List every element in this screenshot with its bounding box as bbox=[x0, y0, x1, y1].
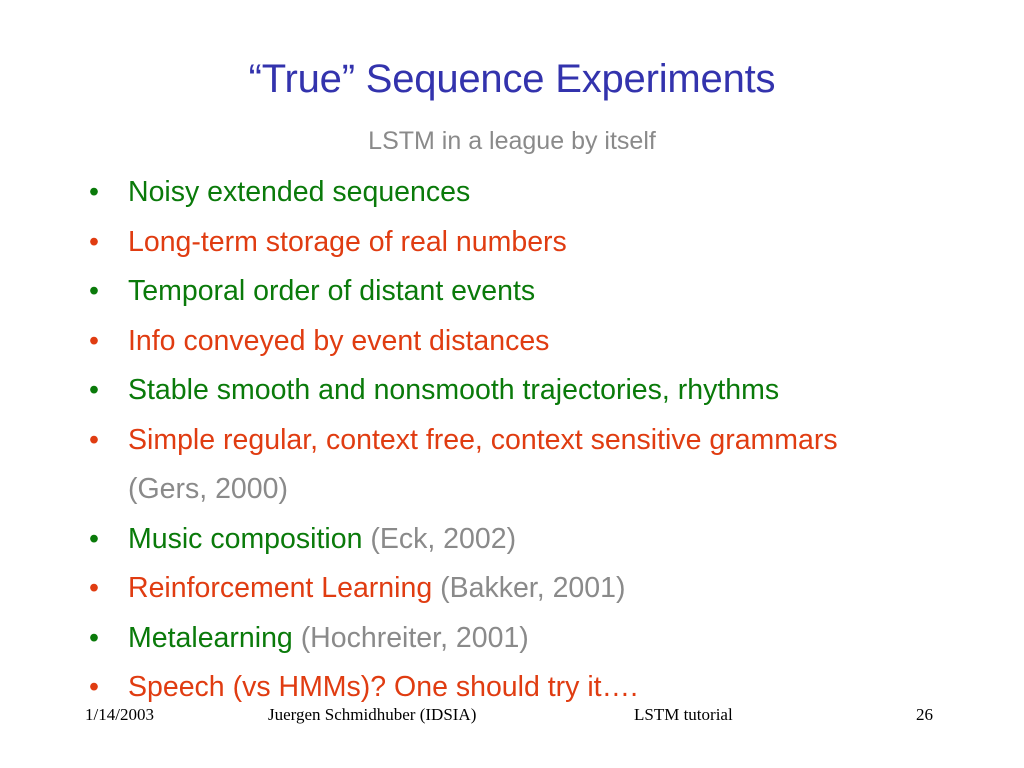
list-item: •Long-term storage of real numbers bbox=[84, 218, 984, 268]
bullet-list: •Noisy extended sequences•Long-term stor… bbox=[84, 168, 984, 713]
slide-footer: 1/14/2003 Juergen Schmidhuber (IDSIA) LS… bbox=[0, 703, 1024, 733]
list-item: •Simple regular, context free, context s… bbox=[84, 416, 888, 515]
list-item-label: Simple regular, context free, context se… bbox=[128, 424, 838, 456]
list-item: •Stable smooth and nonsmooth trajectorie… bbox=[84, 366, 984, 416]
list-item-label: Reinforcement Learning bbox=[128, 572, 432, 604]
bullet-marker-icon: • bbox=[89, 218, 99, 268]
bullet-marker-icon: • bbox=[89, 564, 99, 614]
slide-subtitle: LSTM in a league by itself bbox=[0, 127, 1024, 156]
bullet-marker-icon: • bbox=[89, 515, 99, 565]
list-item-citation: (Bakker, 2001) bbox=[440, 572, 625, 604]
list-item-label: Temporal order of distant events bbox=[128, 275, 535, 307]
list-item: •Reinforcement Learning (Bakker, 2001) bbox=[84, 564, 984, 614]
bullet-marker-icon: • bbox=[89, 416, 99, 466]
bullet-marker-icon: • bbox=[89, 614, 99, 664]
list-item: •Info conveyed by event distances bbox=[84, 317, 984, 367]
footer-date: 1/14/2003 bbox=[85, 703, 154, 727]
footer-page-number: 26 bbox=[916, 703, 933, 727]
list-item-citation: (Eck, 2002) bbox=[370, 523, 516, 555]
list-item-label: Metalearning bbox=[128, 622, 293, 654]
list-item-label: Music composition bbox=[128, 523, 362, 555]
list-item: •Music composition (Eck, 2002) bbox=[84, 515, 984, 565]
list-item-citation: (Gers, 2000) bbox=[128, 473, 288, 505]
list-item: •Metalearning (Hochreiter, 2001) bbox=[84, 614, 984, 664]
page-title: “True” Sequence Experiments bbox=[0, 56, 1024, 102]
bullet-marker-icon: • bbox=[89, 366, 99, 416]
list-item-label: Speech (vs HMMs)? One should try it…. bbox=[128, 671, 638, 703]
bullet-marker-icon: • bbox=[89, 168, 99, 218]
footer-topic: LSTM tutorial bbox=[634, 703, 733, 727]
footer-author: Juergen Schmidhuber (IDSIA) bbox=[268, 703, 476, 727]
list-item-citation: (Hochreiter, 2001) bbox=[301, 622, 529, 654]
slide-canvas: “True” Sequence Experiments LSTM in a le… bbox=[0, 0, 1024, 768]
bullet-marker-icon: • bbox=[89, 317, 99, 367]
list-item-label: Stable smooth and nonsmooth trajectories… bbox=[128, 374, 779, 406]
list-item-label: Info conveyed by event distances bbox=[128, 325, 549, 357]
list-item: •Noisy extended sequences bbox=[84, 168, 984, 218]
list-item-label: Noisy extended sequences bbox=[128, 176, 470, 208]
list-item-label: Long-term storage of real numbers bbox=[128, 226, 567, 258]
bullet-marker-icon: • bbox=[89, 267, 99, 317]
list-item: •Temporal order of distant events bbox=[84, 267, 984, 317]
